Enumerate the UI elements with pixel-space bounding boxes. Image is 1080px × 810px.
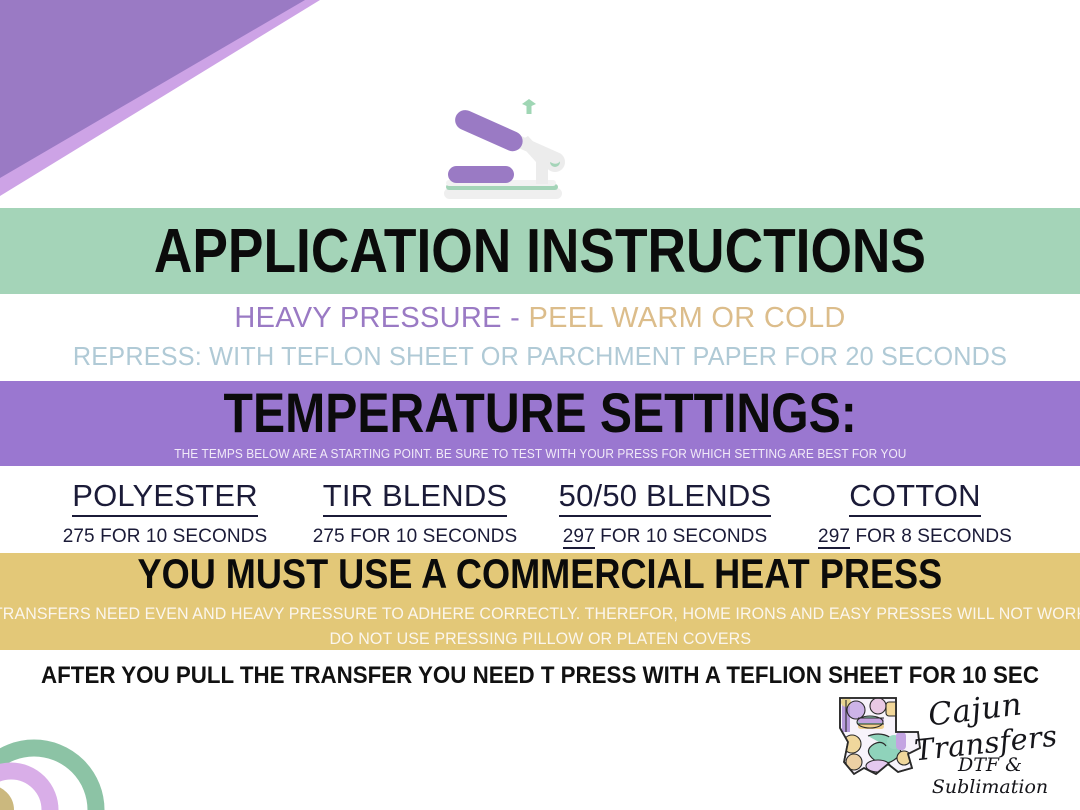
- brand-logo: Cajun Transfers DTF & Sublimation: [834, 688, 1062, 800]
- repress-instruction: REPRESS: WITH TEFLON SHEET OR PARCHMENT …: [16, 341, 1064, 372]
- fabric-column-tri-blends: TIR BLENDS 275 FOR 10 SECONDS: [290, 478, 540, 548]
- heat-press-illustration: [432, 96, 592, 204]
- commercial-press-note-line2: DO NOT USE PRESSING PILLOW OR PLATEN COV…: [329, 627, 751, 652]
- corner-dark-triangle: [0, 0, 305, 178]
- fabric-name-polyester: POLYESTER: [72, 478, 258, 517]
- fabric-setting-5050-blends: 297 FOR 10 SECONDS: [540, 526, 790, 548]
- pressure-peel-row: HEAVY PRESSURE - PEEL WARM OR COLD: [0, 303, 1080, 335]
- commercial-press-banner: YOU MUST USE A COMMERCIAL HEAT PRESS TRA…: [0, 553, 1080, 650]
- fabric-name-5050-blends: 50/50 BLENDS: [559, 478, 772, 517]
- fabric-temp-5050-blends: 297: [563, 526, 595, 549]
- temperature-settings-banner: TEMPERATURE SETTINGS: THE TEMPS BELOW AR…: [0, 381, 1080, 466]
- post-pull-instruction: AFTER YOU PULL THE TRANSFER YOU NEED T P…: [38, 662, 1042, 690]
- temperature-settings-title: TEMPERATURE SETTINGS:: [223, 385, 856, 441]
- fabric-name-tri-blends: TIR BLENDS: [323, 478, 508, 517]
- fabric-setting-polyester: 275 FOR 10 SECONDS: [40, 526, 290, 548]
- corner-light-triangle: [0, 0, 320, 196]
- poster-canvas: APPLICATION INSTRUCTIONS HEAVY PRESSURE …: [0, 0, 1080, 810]
- fabric-temp-polyester: 275: [63, 526, 95, 547]
- application-instructions-banner: APPLICATION INSTRUCTIONS: [0, 208, 1080, 294]
- page-title: APPLICATION INSTRUCTIONS: [154, 221, 926, 283]
- fabric-name-cotton: COTTON: [849, 478, 981, 517]
- fabric-setting-tri-blends: 275 FOR 10 SECONDS: [290, 526, 540, 548]
- fabric-duration-cotton: FOR 8 SECONDS: [850, 526, 1012, 547]
- fabric-setting-cotton: 297 FOR 8 SECONDS: [790, 526, 1040, 548]
- temperature-disclaimer: THE TEMPS BELOW ARE A STARTING POINT. BE…: [174, 447, 906, 461]
- peel-instruction-label: PEEL WARM OR COLD: [528, 302, 845, 334]
- fabric-temp-cotton: 297: [818, 526, 850, 549]
- fabric-settings-grid: POLYESTER 275 FOR 10 SECONDS TIR BLENDS …: [40, 478, 1040, 548]
- logo-tagline: DTF & Sublimation: [910, 754, 1070, 798]
- corner-decoration: [0, 0, 330, 205]
- fabric-duration-polyester: FOR 10 SECONDS: [95, 526, 268, 547]
- commercial-press-title: YOU MUST USE A COMMERCIAL HEAT PRESS: [138, 553, 943, 595]
- separator-dash: -: [502, 302, 529, 334]
- rainbow-decoration: [0, 692, 112, 810]
- fabric-temp-tri-blends: 275: [313, 526, 345, 547]
- fabric-duration-5050-blends: FOR 10 SECONDS: [595, 526, 768, 547]
- fabric-column-polyester: POLYESTER 275 FOR 10 SECONDS: [40, 478, 290, 548]
- fabric-column-cotton: COTTON 297 FOR 8 SECONDS: [790, 478, 1040, 548]
- fabric-duration-tri-blends: FOR 10 SECONDS: [345, 526, 518, 547]
- fabric-column-5050-blends: 50/50 BLENDS 297 FOR 10 SECONDS: [540, 478, 790, 548]
- commercial-press-note-line1: TRANSFERS NEED EVEN AND HEAVY PRESSURE T…: [0, 602, 1080, 627]
- heavy-pressure-label: HEAVY PRESSURE: [234, 302, 501, 334]
